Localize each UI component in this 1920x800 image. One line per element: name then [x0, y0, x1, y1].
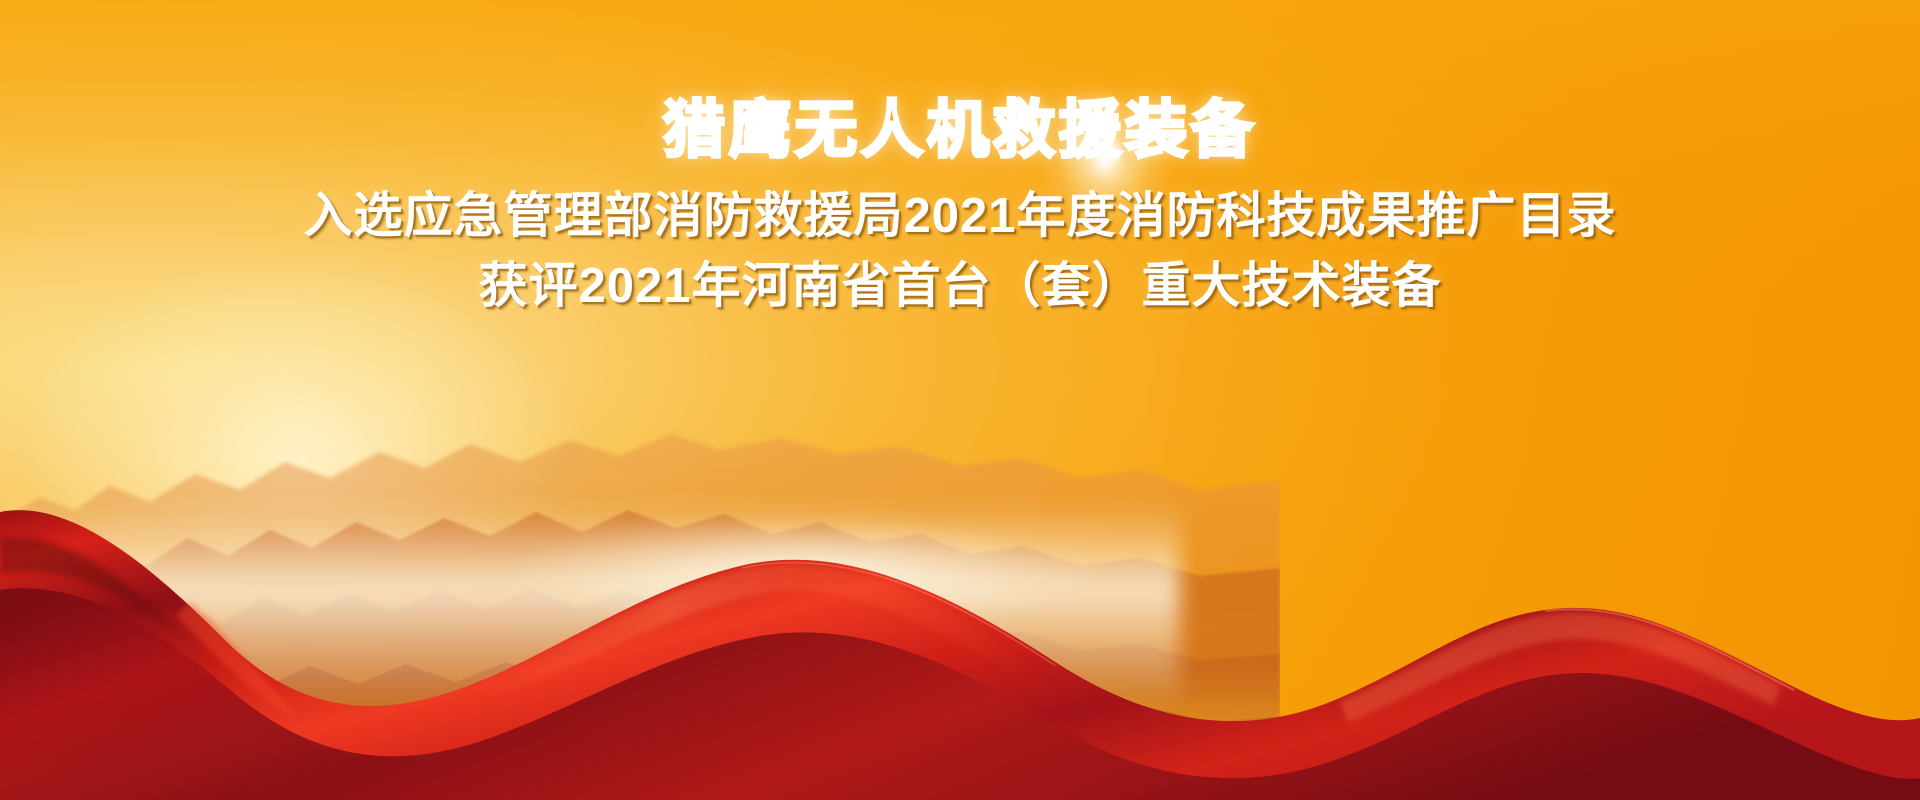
- banner-text-block: 猎鹰无人机救援装备 入选应急管理部消防救援局2021年度消防科技成果推广目录 获…: [0, 96, 1920, 317]
- red-silk-ribbon-icon: [0, 470, 1920, 800]
- main-title: 猎鹰无人机救援装备: [663, 96, 1257, 165]
- subtitle-line-2: 获评2021年河南省首台（套）重大技术装备: [478, 257, 1441, 317]
- banner-stage: 猎鹰无人机救援装备 入选应急管理部消防救援局2021年度消防科技成果推广目录 获…: [0, 0, 1920, 800]
- subtitle-line-1: 入选应急管理部消防救援局2021年度消防科技成果推广目录: [303, 187, 1616, 247]
